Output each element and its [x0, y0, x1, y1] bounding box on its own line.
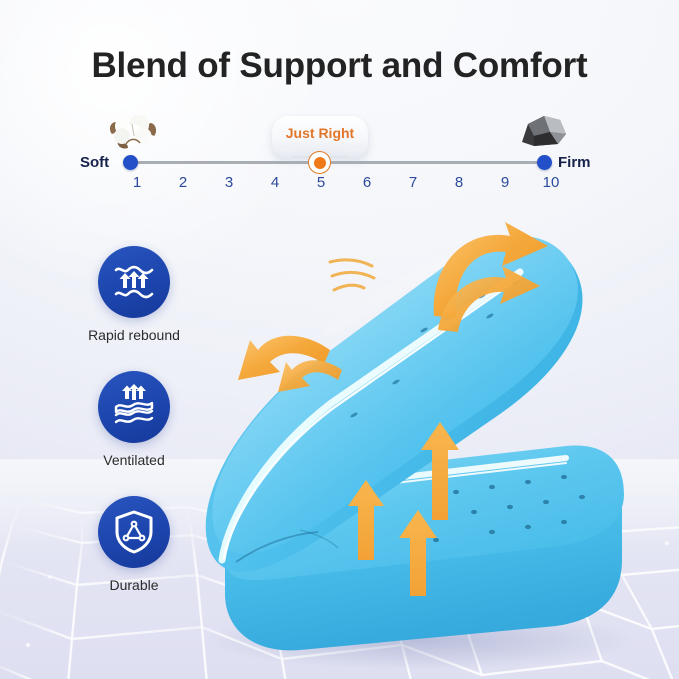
scale-tick-6: 6	[353, 174, 381, 191]
scale-tick-8: 8	[445, 174, 473, 191]
infographic-canvas: Blend of Support and Comfort	[0, 0, 679, 679]
firmness-track[interactable]	[130, 161, 544, 164]
firm-label: Firm	[558, 154, 591, 171]
speed-lines	[330, 260, 374, 290]
feature-list: Rapid rebound Ventilated	[74, 246, 194, 621]
scale-tick-10: 10	[537, 174, 565, 191]
just-right-badge: Just Right	[272, 116, 368, 156]
scale-tick-2: 2	[169, 174, 197, 191]
scale-tick-1: 1	[123, 174, 151, 191]
arrow-up-right-large	[434, 222, 548, 318]
feature-label: Durable	[74, 577, 194, 593]
feature-ventilated: Ventilated	[74, 371, 194, 496]
feature-icon-circle	[98, 246, 170, 318]
cotton-boll-icon	[106, 108, 160, 154]
feature-icon-circle	[98, 371, 170, 443]
scale-ticks: 1 2 3 4 5 6 7 8 9 10	[116, 174, 560, 194]
rapid-rebound-icon	[111, 259, 157, 305]
firmness-marker[interactable]	[308, 151, 331, 174]
feature-rapid-rebound: Rapid rebound	[74, 246, 194, 371]
feature-label: Rapid rebound	[74, 327, 194, 343]
arrow-left-large	[238, 336, 330, 380]
soft-label: Soft	[80, 154, 109, 171]
feature-durable: Durable	[74, 496, 194, 621]
firmness-scale: Just Right Soft Firm 1 2 3 4 5 6 7 8 9 1…	[86, 112, 594, 194]
scale-tick-7: 7	[399, 174, 427, 191]
scale-tick-5: 5	[307, 174, 335, 191]
durable-shield-icon	[111, 509, 157, 555]
vent-holes-top	[350, 280, 521, 419]
arrow-right-small	[438, 266, 540, 332]
firm-endpoint-dot[interactable]	[537, 155, 552, 170]
marker-core	[314, 157, 326, 169]
arrow-left-small	[278, 360, 342, 392]
scale-tick-4: 4	[261, 174, 289, 191]
feature-icon-circle	[98, 496, 170, 568]
feature-label: Ventilated	[74, 452, 194, 468]
rock-icon	[514, 110, 572, 152]
page-title: Blend of Support and Comfort	[0, 46, 679, 86]
just-right-label: Just Right	[272, 125, 368, 141]
scale-tick-3: 3	[215, 174, 243, 191]
ventilated-icon	[111, 384, 157, 430]
scale-tick-9: 9	[491, 174, 519, 191]
soft-endpoint-dot[interactable]	[123, 155, 138, 170]
